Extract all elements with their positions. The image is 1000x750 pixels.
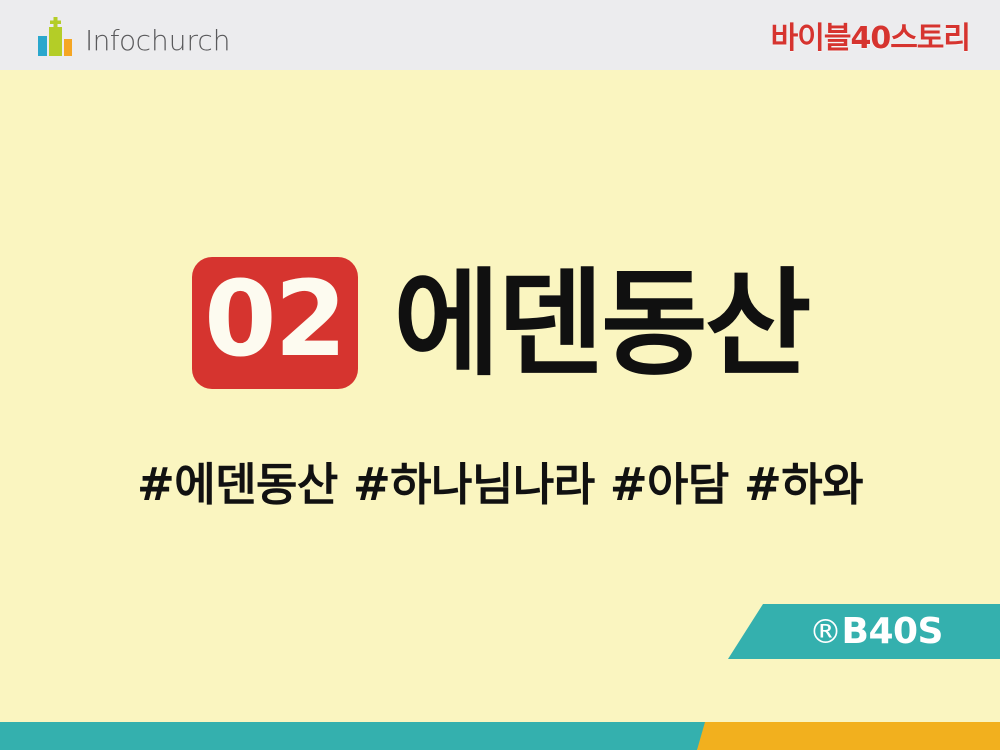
episode-number: 02 (204, 267, 345, 371)
brand-name-bold: Info (85, 24, 136, 57)
footer-bar-orange (690, 722, 1000, 750)
page-title: 에덴동산 (394, 267, 809, 383)
registered-mark-icon: ® (809, 612, 842, 651)
series-title: 바이블40스토리 (771, 13, 970, 57)
slide-canvas: Infochurch 바이블40스토리 02 에덴동산 #에덴동산 #하나님나라… (0, 0, 1000, 750)
church-chart-cross-icon (36, 16, 80, 58)
brand-name: Infochurch (85, 27, 231, 55)
brand-logo[interactable]: Infochurch (36, 12, 231, 58)
ribbon-text: B40S (842, 611, 943, 652)
brand-name-light: church (136, 24, 231, 57)
header-bar: Infochurch 바이블40스토리 (0, 0, 1000, 70)
footer-bar-teal (0, 722, 712, 750)
title-row: 02 에덴동산 (0, 244, 1000, 402)
ribbon-label: ®B40S (785, 611, 943, 652)
hashtag-line: #에덴동산 #하나님나라 #아담 #하와 (0, 448, 1000, 513)
episode-badge: 02 (192, 257, 358, 389)
brand-ribbon: ®B40S (728, 604, 1000, 659)
